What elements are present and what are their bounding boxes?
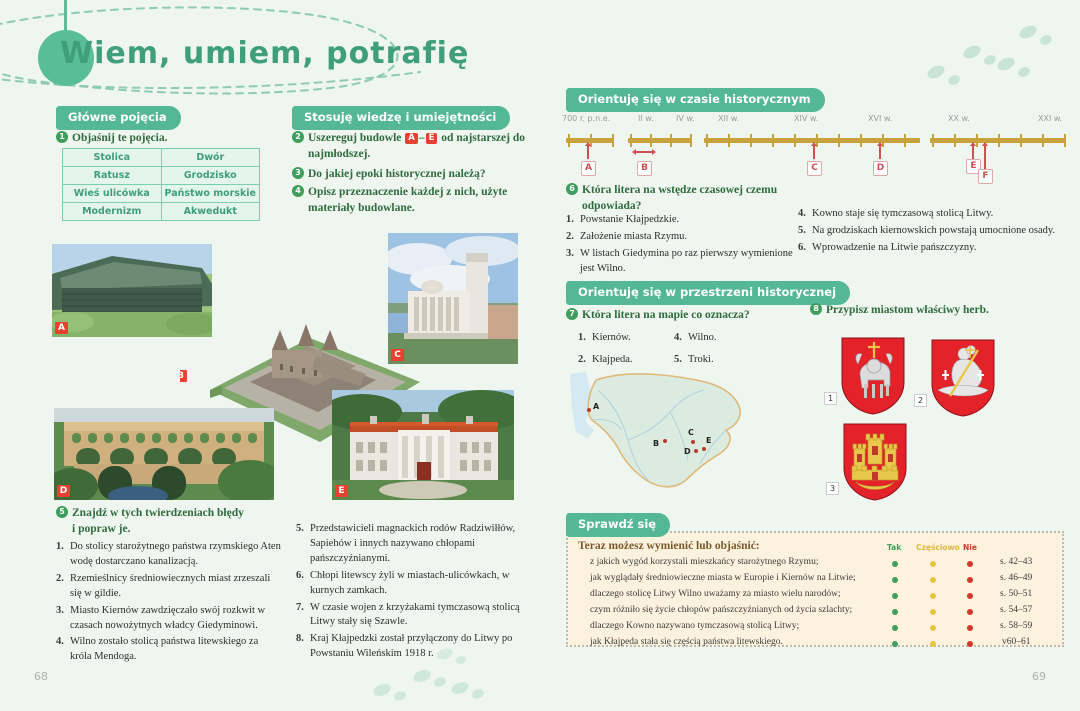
table-row: Wieś ulicówka Państwo morskie <box>63 185 260 203</box>
letter-tag-a: A <box>405 133 418 144</box>
map-point-b <box>663 439 667 443</box>
item-text: Wilno zostało stolicą państwa litewskieg… <box>70 635 281 665</box>
dot-no[interactable] <box>967 561 973 567</box>
item-number: 1. <box>56 540 70 570</box>
concept-cell: Stolica <box>63 149 162 167</box>
item-text: Do stolicy starożytnego państwa rzymskie… <box>70 540 281 570</box>
timeline-arrow-d <box>879 145 881 159</box>
timeline-tick <box>772 134 774 147</box>
column-header-no: Nie <box>963 543 977 552</box>
task-4-text: Opisz przeznaczenie każdej z nich, użyte… <box>308 185 517 216</box>
timeline-tick <box>690 134 692 147</box>
list-item: 2.Kłajpeda. <box>578 350 678 370</box>
dot-yes[interactable] <box>892 593 898 599</box>
map-point-c <box>691 440 695 444</box>
section-header-sprawdz-sie: Sprawdź się <box>566 513 670 537</box>
item-text: Przedstawicieli magnackich rodów Radziwi… <box>310 522 521 567</box>
timeline-marker-c: C <box>807 161 822 176</box>
photo-label-d: D <box>57 485 70 497</box>
timeline-range-b <box>636 151 652 153</box>
task-8-text: Przypisz miastom właściwy herb. <box>826 303 989 319</box>
task-number-2: 2 <box>292 131 304 143</box>
photo-label-c: C <box>391 349 404 361</box>
self-check-row-text: jak Kłajpeda stała się częścią państwa l… <box>590 637 783 647</box>
item-text: W listach Giedymina po raz pierwszy wymi… <box>580 247 806 277</box>
item-text: Założenie miasta Rzymu. <box>580 230 806 245</box>
item-number: 5. <box>674 350 688 370</box>
list-item: 1.Do stolicy starożytnego państwa rzymsk… <box>56 540 281 570</box>
column-header-yes: Tak <box>887 543 901 552</box>
concept-cell: Akwedukt <box>161 203 260 221</box>
letter-tag-e: E <box>426 133 438 144</box>
item-number: 4. <box>674 328 688 348</box>
timeline-marker-a: A <box>581 161 596 176</box>
coat-of-arms-number-1: 1 <box>824 392 837 405</box>
task-3-heading: 3 Do jakiej epoki historycznej należą? <box>292 167 527 183</box>
section-header-stosuje-wiedze: Stosuję wiedzę i umiejętności <box>292 106 510 130</box>
item-number: 6. <box>798 241 812 256</box>
item-number: 3. <box>56 604 70 634</box>
item-number: 4. <box>798 207 812 222</box>
item-number: 2. <box>578 350 592 370</box>
timeline-label: II w. <box>638 114 654 123</box>
errors-list-left: 1.Do stolicy starożytnego państwa rzymsk… <box>56 540 281 665</box>
concept-cell: Dwór <box>161 149 260 167</box>
item-number: 2. <box>566 230 580 245</box>
timeline-tick <box>838 134 840 147</box>
task-6-list-left: 1.Powstanie Kłajpedzkie. 2.Założenie mia… <box>566 210 806 279</box>
dot-no[interactable] <box>967 609 973 615</box>
table-row: Modernizm Akwedukt <box>63 203 260 221</box>
dot-partly[interactable] <box>930 609 936 615</box>
coats-of-arms: 1 2 <box>822 322 1072 512</box>
task-3-text: Do jakiej epoki historycznej należą? <box>308 167 486 183</box>
item-text: Powstanie Kłajpedzkie. <box>580 213 806 228</box>
map-label-e: E <box>706 436 711 445</box>
map-label-a: A <box>593 402 599 411</box>
timeline-marker-d: D <box>873 161 888 176</box>
timeline-tick <box>998 134 1000 147</box>
page-reference: v60–61 <box>1002 637 1031 647</box>
list-item: 4.Wilno. <box>674 328 774 348</box>
task-number-4: 4 <box>292 185 304 197</box>
item-text: Troki. <box>688 350 774 370</box>
list-item: 3.Miasto Kiernów zawdzięczało swój rozkw… <box>56 604 281 634</box>
item-number: 1. <box>578 328 592 348</box>
timeline-tick <box>794 134 796 147</box>
map-answers-right: 4.Wilno. 5.Troki. <box>674 328 774 370</box>
timeline-tick <box>954 134 956 147</box>
item-text: Wilno. <box>688 328 774 348</box>
self-check-row-text: czym różniło się życie chłopów pańszczyź… <box>590 605 852 615</box>
list-item: 1.Kiernów. <box>578 328 678 348</box>
page-reference: s. 46–49 <box>1000 573 1032 583</box>
list-item: 7.W czasie wojen z krzyżakami tymczasową… <box>296 601 521 631</box>
section-header-przestrzen-historyczna: Orientuję się w przestrzeni historycznej <box>566 281 850 305</box>
task-7-heading: 7 Która litera na mapie co oznacza? <box>566 308 806 324</box>
page-number-right: 69 <box>1032 670 1046 683</box>
table-row: Stolica Dwór <box>63 149 260 167</box>
timeline-answers-right: 4.Kowno staje się tymczasową stolicą Lit… <box>798 207 1060 256</box>
item-text: Na grodziskach kiernowskich powstają umo… <box>812 224 1060 239</box>
map-point-e <box>702 447 706 451</box>
timeline-tick <box>1042 134 1044 147</box>
task-number-5: 5 <box>56 506 68 518</box>
coat-of-arms-number-2: 2 <box>914 394 927 407</box>
timeline-label: 700 r. p.n.e. <box>562 114 610 123</box>
item-text: Miasto Kiernów zawdzięczało swój rozkwit… <box>70 604 281 634</box>
dot-yes[interactable] <box>892 561 898 567</box>
item-number: 2. <box>56 572 70 602</box>
timeline-tick <box>860 134 862 147</box>
dot-partly[interactable] <box>930 625 936 631</box>
photo-c-modernist-building: C <box>388 233 518 364</box>
timeline-arrow-e <box>972 145 974 159</box>
list-item: 3.W listach Giedymina po raz pierwszy wy… <box>566 247 806 277</box>
item-text: Kłajpeda. <box>592 350 678 370</box>
title-stem <box>64 0 67 34</box>
column-header-partly: Częściowo <box>916 543 960 552</box>
task-4-heading: 4 Opisz przeznaczenie każdej z nich, uży… <box>292 185 517 216</box>
task-7-list-right: 4.Wilno. 5.Troki. <box>674 325 774 372</box>
item-number: 8. <box>296 632 310 662</box>
page-title: Wiem, umiem, potrafię <box>60 36 469 71</box>
timeline-tick <box>1020 134 1022 147</box>
dot-no[interactable] <box>967 625 973 631</box>
list-item: 6.Chłopi litewscy żyli w miastach-uliców… <box>296 569 521 599</box>
task-6-list-right: 4.Kowno staje się tymczasową stolicą Lit… <box>798 204 1060 258</box>
dot-partly[interactable] <box>930 561 936 567</box>
coat-of-arms-3 <box>842 422 908 507</box>
task-number-3: 3 <box>292 167 304 179</box>
item-text: Wprowadzenie na Litwie pańszczyzny. <box>812 241 1060 256</box>
dot-partly[interactable] <box>930 577 936 583</box>
page-reference: s. 42–43 <box>1000 557 1032 567</box>
self-check-intro: Teraz możesz wymienić lub objaśnić: <box>578 540 760 552</box>
dot-yes[interactable] <box>892 577 898 583</box>
timeline-tick <box>706 134 708 147</box>
photo-label-e: E <box>335 485 348 497</box>
list-item: 4.Kowno staje się tymczasową stolicą Lit… <box>798 207 1060 222</box>
item-number: 7. <box>296 601 310 631</box>
photo-d-aqueduct: D <box>54 408 274 500</box>
tag-dash: – <box>419 132 425 144</box>
list-item: 4.Wilno zostało stolicą państwa litewski… <box>56 635 281 665</box>
dot-yes[interactable] <box>892 609 898 615</box>
list-item: 5.Troki. <box>674 350 774 370</box>
task-2-text: Uszereguj budowle A–E od najstarszej do … <box>308 131 527 162</box>
timeline-arrow-c <box>813 145 815 159</box>
task-number-1: 1 <box>56 131 68 143</box>
timeline-tick <box>728 134 730 147</box>
concepts-table: Stolica Dwór Ratusz Grodzisko Wieś ulicó… <box>62 148 260 221</box>
concept-cell: Państwo morskie <box>161 185 260 203</box>
task-number-8: 8 <box>810 303 822 315</box>
timeline-marker-f: F <box>978 169 993 184</box>
list-item: 2.Założenie miasta Rzymu. <box>566 230 806 245</box>
concept-cell: Modernizm <box>63 203 162 221</box>
item-number: 6. <box>296 569 310 599</box>
list-item: 6.Wprowadzenie na Litwie pańszczyzny. <box>798 241 1060 256</box>
photo-label-a: A <box>55 322 68 334</box>
dot-yes[interactable] <box>892 641 898 647</box>
coat-of-arms-1 <box>840 336 906 421</box>
timeline-arrow-a <box>587 145 589 159</box>
item-text: Kowno staje się tymczasową stolicą Litwy… <box>812 207 1060 222</box>
timeline-tick <box>568 134 570 147</box>
map-point-d <box>694 449 698 453</box>
concept-cell: Grodzisko <box>161 167 260 185</box>
item-text: Kiernów. <box>592 328 678 348</box>
list-item: 8.Kraj Kłajpedzki został przyłączony do … <box>296 632 521 662</box>
textbook-spread: Wiem, umiem, potrafię Główne pojęcia 1 O… <box>0 0 1080 711</box>
task-5-right-column: 5.Przedstawicieli magnackich rodów Radzi… <box>296 519 521 664</box>
item-number: 4. <box>56 635 70 665</box>
timeline-arrow-f <box>984 145 986 169</box>
timeline-tick <box>670 134 672 147</box>
timeline-answers-left: 1.Powstanie Kłajpedzkie. 2.Założenie mia… <box>566 213 806 277</box>
self-check-row-text: dlaczego stolicę Litwy Wilno uważamy za … <box>590 589 841 599</box>
coat-of-arms-2 <box>930 338 996 423</box>
section-header-czas-historyczny: Orientuję się w czasie historycznym <box>566 88 825 112</box>
timeline-segment-2 <box>628 138 692 143</box>
item-number: 5. <box>798 224 812 239</box>
footprints-decoration-top <box>900 10 1070 95</box>
photo-label-b: B <box>180 370 187 382</box>
list-item: 5.Przedstawicieli magnackich rodów Radzi… <box>296 522 521 567</box>
task-number-6: 6 <box>566 183 578 195</box>
task-5-block: 5 Znajdź w tych twierdzeniach błędy i po… <box>56 506 281 667</box>
timeline-marker-b: B <box>637 161 652 176</box>
timeline-label: XXI w. <box>1038 114 1062 123</box>
self-check-row-text: dlaczego Kowno nazywano tymczasową stoli… <box>590 621 799 631</box>
task-1-text: Objaśnij te pojęcia. <box>72 131 168 147</box>
page-reference: s. 54–57 <box>1000 605 1032 615</box>
section-header-glowne-pojecia: Główne pojęcia <box>56 106 181 130</box>
table-row: Ratusz Grodzisko <box>63 167 260 185</box>
photo-e-manor: E <box>332 390 514 500</box>
timeline-tick <box>1064 134 1066 147</box>
task-number-7: 7 <box>566 308 578 320</box>
timeline-tick <box>750 134 752 147</box>
dot-no[interactable] <box>967 593 973 599</box>
page-number-left: 68 <box>34 670 48 683</box>
timeline-label: IV w. <box>676 114 695 123</box>
item-text: W czasie wojen z krzyżakami tymczasową s… <box>310 601 521 631</box>
item-text: Chłopi litewscy żyli w miastach-ulicówka… <box>310 569 521 599</box>
timeline-label: XX w. <box>948 114 970 123</box>
item-number: 5. <box>296 522 310 567</box>
dot-yes[interactable] <box>892 625 898 631</box>
task-8-heading: 8 Przypisz miastom właściwy herb. <box>810 303 1060 319</box>
page-reference: s. 50–51 <box>1000 589 1032 599</box>
self-check-row-text: z jakich wygód korzystali mieszkańcy sta… <box>590 557 818 567</box>
item-text: Rzemieślnicy średniowiecznych miast zrze… <box>70 572 281 602</box>
timeline-label: XIV w. <box>794 114 818 123</box>
timeline-tick <box>612 134 614 147</box>
timeline-label: XII w. <box>718 114 739 123</box>
task-5-heading: 5 Znajdź w tych twierdzeniach błędy i po… <box>56 506 281 537</box>
item-text: Kraj Kłajpedzki został przyłączony do Li… <box>310 632 521 662</box>
task-5-heading-line1: Znajdź w tych twierdzeniach błędy <box>72 507 244 519</box>
map-label-c: C <box>688 428 694 437</box>
concept-cell: Wieś ulicówka <box>63 185 162 203</box>
map-label-d: D <box>684 447 691 456</box>
timeline: 700 r. p.n.e. II w. IV w. XII w. XIV w. … <box>566 112 1066 178</box>
timeline-tick <box>932 134 934 147</box>
task-1-heading: 1 Objaśnij te pojęcia. <box>56 131 286 147</box>
dot-partly[interactable] <box>930 593 936 599</box>
timeline-tick <box>650 134 652 147</box>
timeline-label: XVI w. <box>868 114 892 123</box>
timeline-tick <box>904 134 906 147</box>
task-2-block: 2 Uszereguj budowle A–E od najstarszej d… <box>292 131 527 162</box>
timeline-tick <box>630 134 632 147</box>
map-point-a <box>587 408 591 412</box>
self-check-row-text: jak wyglądały średniowieczne miasta w Eu… <box>590 573 856 583</box>
task-2-heading: 2 Uszereguj budowle A–E od najstarszej d… <box>292 131 527 162</box>
errors-list-right: 5.Przedstawicieli magnackich rodów Radzi… <box>296 522 521 662</box>
item-number: 1. <box>566 213 580 228</box>
dot-no[interactable] <box>967 641 973 647</box>
task-2-text-before: Uszereguj budowle <box>308 132 401 144</box>
dot-no[interactable] <box>967 577 973 583</box>
map-lithuania: A B C D E <box>566 368 756 500</box>
list-item: 2.Rzemieślnicy średniowiecznych miast zr… <box>56 572 281 602</box>
page-reference: s. 58–59 <box>1000 621 1032 631</box>
concept-cell: Ratusz <box>63 167 162 185</box>
task-7-text: Która litera na mapie co oznacza? <box>582 308 750 324</box>
task-5-heading-line2: i popraw je. <box>72 523 130 535</box>
coat-of-arms-number-3: 3 <box>826 482 839 495</box>
dot-partly[interactable] <box>930 641 936 647</box>
item-number: 3. <box>566 247 580 277</box>
list-item: 1.Powstanie Kłajpedzkie. <box>566 213 806 228</box>
map-label-b: B <box>653 439 659 448</box>
list-item: 5.Na grodziskach kiernowskich powstają u… <box>798 224 1060 239</box>
timeline-tick <box>976 134 978 147</box>
